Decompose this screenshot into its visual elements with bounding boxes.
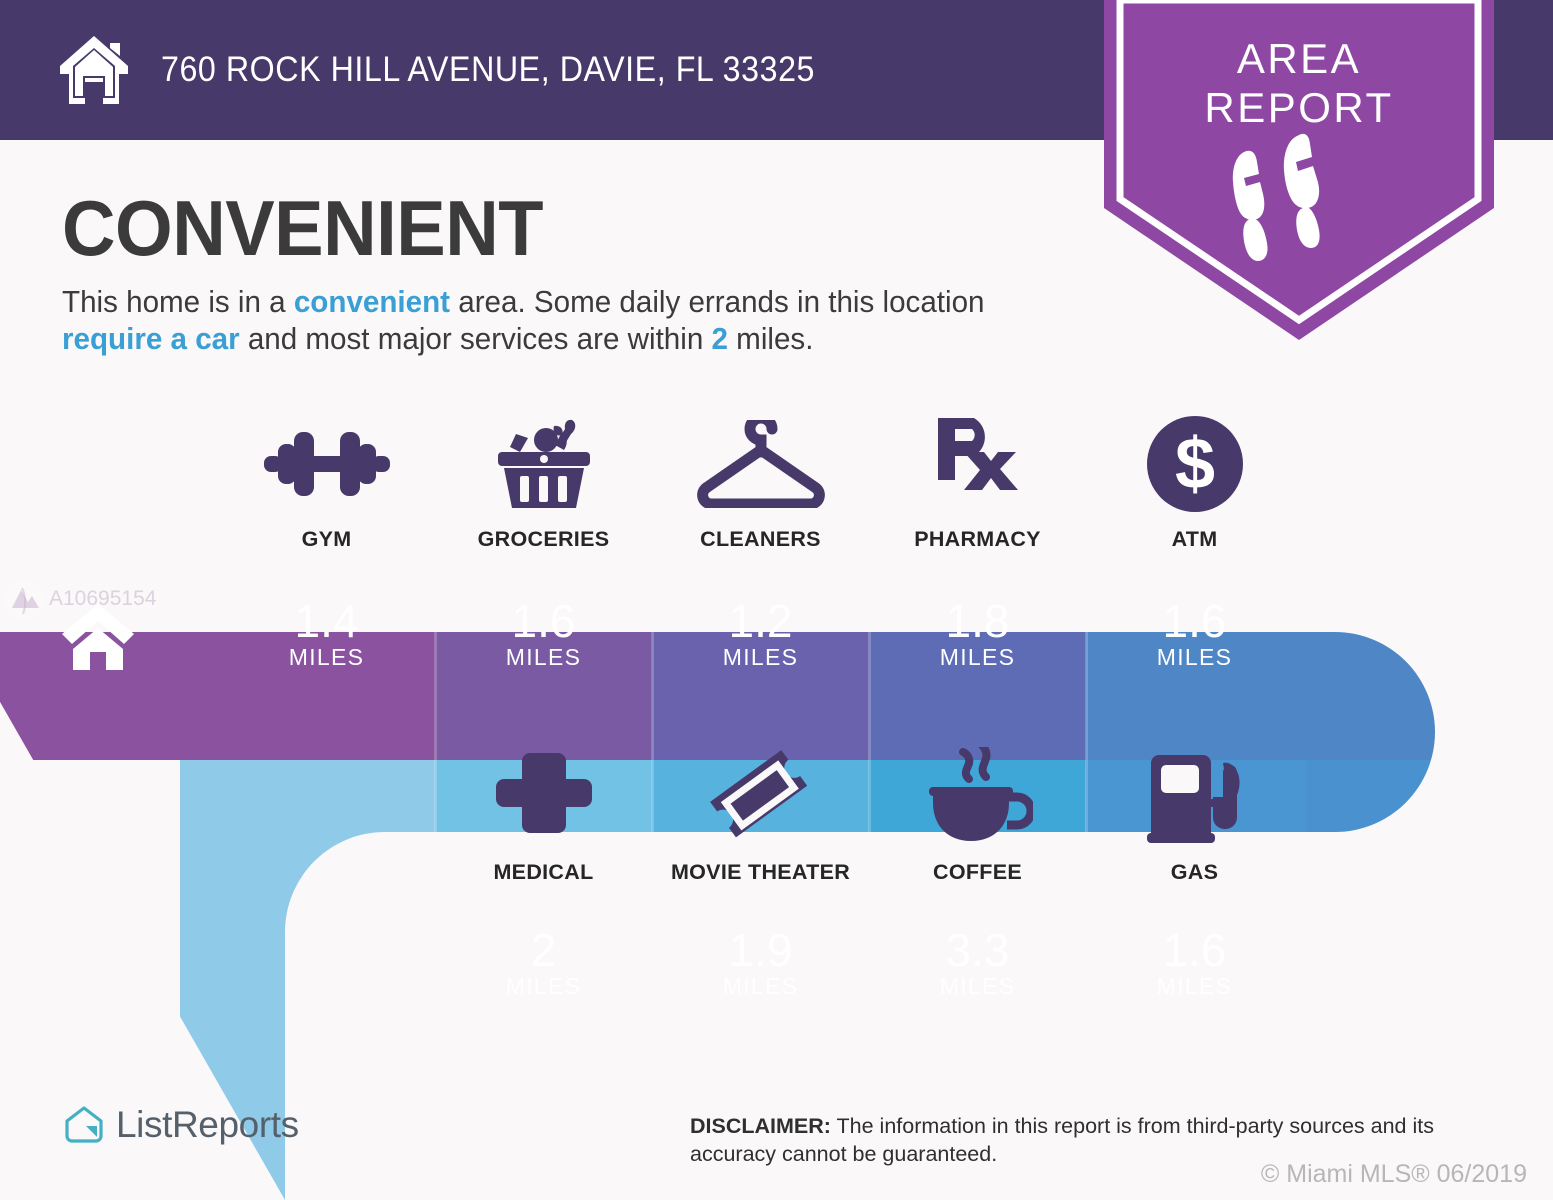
distance-value: 1.6 — [1086, 925, 1303, 975]
distance-groceries: 1.6 MILES — [435, 596, 652, 670]
summary-text: This home is in a convenient area. Some … — [62, 284, 1042, 358]
summary-highlight-require-a-car: require a car — [62, 322, 240, 356]
amenity-pharmacy: PHARMACY — [869, 412, 1086, 552]
amenity-gas: GAS — [1086, 745, 1303, 885]
summary-part-1: This home is in a — [62, 285, 294, 319]
amenity-label: GAS — [1171, 860, 1219, 885]
distance-unit: MILES — [435, 644, 652, 670]
listreports-house-icon — [63, 1104, 105, 1146]
distance-pharmacy: 1.8 MILES — [869, 596, 1086, 670]
amenity-movie-theater: MOVIE THEATER — [652, 745, 869, 885]
distance-value: 3.3 — [869, 925, 1086, 975]
distance-value: 1.6 — [1086, 596, 1303, 646]
amenity-label: ATM — [1172, 527, 1218, 552]
distance-row-2: 2 MILES 1.9 MILES 3.3 MILES 1.6 MILES — [0, 925, 1553, 999]
distance-unit: MILES — [869, 644, 1086, 670]
gas-pump-icon — [1145, 745, 1245, 849]
distance-unit: MILES — [869, 973, 1086, 999]
amenity-coffee: COFFEE — [869, 745, 1086, 885]
distance-value: 1.4 — [218, 596, 435, 646]
listreports-wordmark: ListReports — [116, 1104, 299, 1146]
distance-unit: MILES — [435, 973, 652, 999]
prescription-rx-icon — [928, 412, 1028, 516]
disclaimer-label: DISCLAIMER: — [690, 1114, 831, 1138]
summary-highlight-convenient: convenient — [294, 285, 450, 319]
distance-unit: MILES — [652, 644, 869, 670]
area-report-page: 760 ROCK HILL AVENUE, DAVIE, FL 33325 AR… — [0, 0, 1553, 1200]
clothes-hanger-icon — [696, 412, 826, 516]
summary-part-3: and most major services are within — [240, 322, 712, 356]
home-icon — [55, 34, 133, 106]
mls-copyright: © Miami MLS® 06/2019 — [1261, 1160, 1527, 1189]
page-title: CONVENIENT — [62, 186, 543, 270]
distance-atm: 1.6 MILES — [1086, 596, 1303, 670]
distance-value: 1.2 — [652, 596, 869, 646]
amenity-label: PHARMACY — [914, 527, 1041, 552]
amenity-label: COFFEE — [933, 860, 1022, 885]
amenity-label: GROCERIES — [478, 527, 610, 552]
summary-part-2: area. Some daily errands in this locatio… — [450, 285, 984, 319]
distance-medical: 2 MILES — [435, 925, 652, 999]
amenity-gym: GYM — [218, 412, 435, 552]
distance-row-1: 1.4 MILES 1.6 MILES 1.2 MILES 1.8 MILES … — [0, 596, 1553, 670]
listreports-logo: ListReports — [63, 1104, 299, 1146]
distance-coffee: 3.3 MILES — [869, 925, 1086, 999]
distance-gym: 1.4 MILES — [218, 596, 435, 670]
dumbbell-icon — [264, 412, 390, 516]
distance-value: 1.8 — [869, 596, 1086, 646]
grocery-basket-icon — [484, 412, 604, 516]
amenity-icon-row-1: GYM — [0, 412, 1553, 552]
amenity-label: MOVIE THEATER — [671, 860, 850, 885]
amenity-cleaners: CLEANERS — [652, 412, 869, 552]
amenity-atm: $ ATM — [1086, 412, 1303, 552]
distance-unit: MILES — [652, 973, 869, 999]
dollar-circle-icon: $ — [1145, 412, 1245, 516]
summary-part-4: miles. — [728, 322, 813, 356]
distance-value: 1.6 — [435, 596, 652, 646]
amenity-medical: MEDICAL — [435, 745, 652, 885]
property-address: 760 ROCK HILL AVENUE, DAVIE, FL 33325 — [161, 50, 815, 90]
distance-movie-theater: 1.9 MILES — [652, 925, 869, 999]
medical-cross-icon — [496, 745, 592, 849]
distance-cleaners: 1.2 MILES — [652, 596, 869, 670]
distance-unit: MILES — [1086, 973, 1303, 999]
distance-value: 2 — [435, 925, 652, 975]
distance-unit: MILES — [1086, 644, 1303, 670]
amenity-label: CLEANERS — [700, 527, 821, 552]
summary-highlight-miles: 2 — [712, 322, 728, 356]
coffee-cup-icon — [923, 745, 1033, 849]
distance-value: 1.9 — [652, 925, 869, 975]
movie-ticket-icon — [709, 745, 813, 849]
amenity-groceries: GROCERIES — [435, 412, 652, 552]
area-report-badge: AREA REPORT — [1104, 0, 1494, 340]
svg-text:$: $ — [1174, 424, 1214, 504]
amenity-label: GYM — [302, 527, 352, 552]
amenity-label: MEDICAL — [493, 860, 593, 885]
distance-gas: 1.6 MILES — [1086, 925, 1303, 999]
distance-unit: MILES — [218, 644, 435, 670]
amenity-icon-row-2: MEDICAL MOVIE THEATER — [0, 745, 1553, 885]
